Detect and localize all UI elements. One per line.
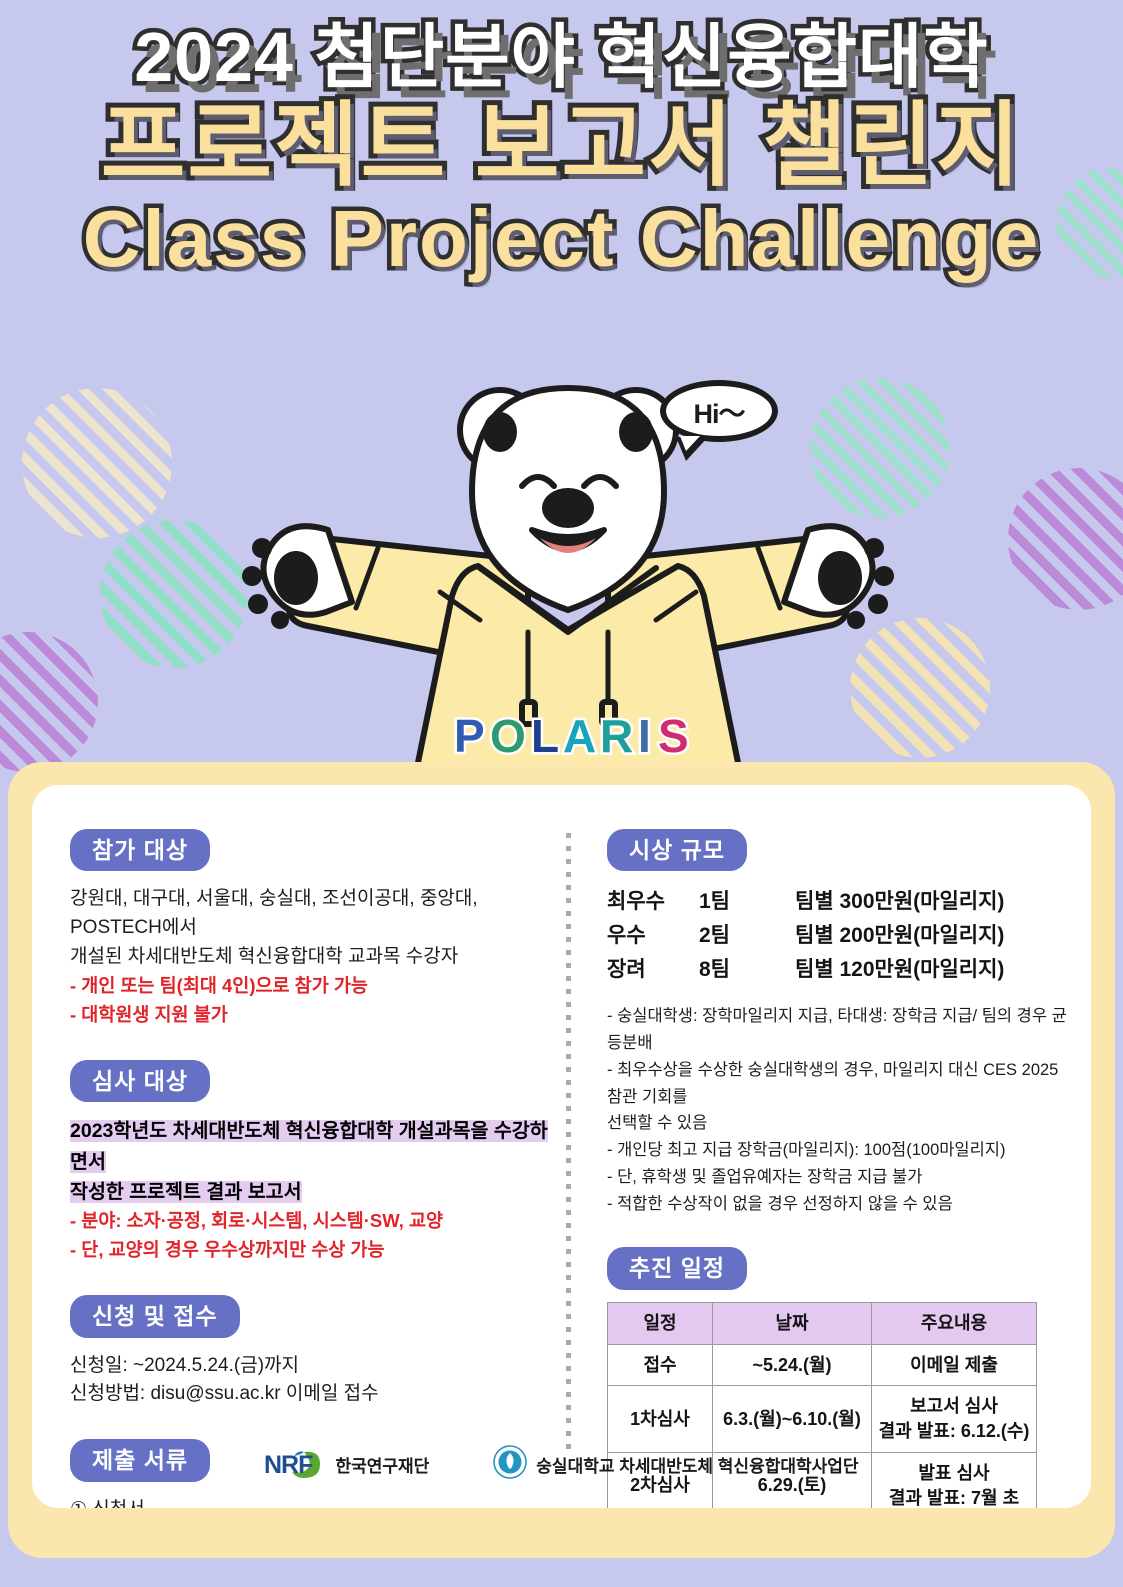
award-teams: 2팀 [699, 919, 795, 953]
award-note-5: - 적합한 수상작이 없을 경우 선정하지 않을 수 있음 [607, 1191, 1077, 1218]
poster-title-block: 2024 첨단분야 혁신융합대학 프로젝트 보고서 챌린지 Class Proj… [0, 22, 1123, 281]
spacer-4 [607, 1217, 1077, 1247]
badge-application: 신청 및 접수 [70, 1295, 240, 1337]
column-divider [566, 833, 571, 1453]
decorative-circle-purple-left [0, 632, 98, 772]
spacer-3 [70, 1409, 550, 1439]
left-column: 참가 대상 강원대, 대구대, 서울대, 숭실대, 조선이공대, 중앙대, PO… [70, 829, 550, 1508]
schedule-stage: 접수 [608, 1344, 713, 1386]
svg-text:R: R [600, 710, 634, 762]
title-line-2: 프로젝트 보고서 챌린지 [0, 98, 1123, 195]
schedule-header-detail: 주요내용 [872, 1302, 1037, 1344]
footer-logos: NRF 한국연구재단 숭실대학교 차세대반도체 혁신융합대학사업단 [32, 1438, 1091, 1490]
schedule-detail-line-1: 이메일 제출 [876, 1353, 1032, 1378]
application-method: 신청방법: disu@ssu.ac.kr 이메일 접수 [70, 1380, 550, 1409]
application-deadline: 신청일: ~2024.5.24.(금)까지 [70, 1352, 550, 1381]
review-highlight-2: 작성한 프로젝트 결과 보고서 [70, 1181, 302, 1203]
info-columns: 참가 대상 강원대, 대구대, 서울대, 숭실대, 조선이공대, 중앙대, PO… [32, 785, 1091, 1508]
info-card-outer: 참가 대상 강원대, 대구대, 서울대, 숭실대, 조선이공대, 중앙대, PO… [8, 762, 1115, 1558]
poster-root: 2024 첨단분야 혁신융합대학 프로젝트 보고서 챌린지 Class Proj… [0, 0, 1123, 1587]
award-row: 장려 8팀 팀별 120만원(마일리지) [607, 953, 1077, 987]
nrf-logo-label: 한국연구재단 [335, 1452, 429, 1477]
title-line-1: 2024 첨단분야 혁신융합대학 [0, 22, 1123, 92]
info-card-inner: 참가 대상 강원대, 대구대, 서울대, 숭실대, 조선이공대, 중앙대, PO… [32, 785, 1091, 1508]
award-prize: 팀별 300만원(마일리지) [795, 885, 1077, 919]
svg-text:NRF: NRF [264, 1451, 313, 1479]
participants-line-1: 강원대, 대구대, 서울대, 숭실대, 조선이공대, 중앙대, POSTECH에… [70, 885, 550, 943]
spacer-1 [70, 1030, 550, 1060]
award-grade: 장려 [607, 953, 699, 987]
ssu-seal-icon [493, 1445, 527, 1484]
schedule-header-date: 날짜 [713, 1302, 872, 1344]
award-grade: 최우수 [607, 885, 699, 919]
logo-group-nrf: NRF 한국연구재단 [264, 1448, 429, 1480]
bear-illustration: P O L A R I S [228, 370, 908, 800]
decorative-circle-cream-left [22, 388, 172, 538]
participants-line-2: 개설된 차세대반도체 혁신융합대학 교과목 수강자 [70, 943, 550, 972]
award-note-1: - 숭실대학생: 장학마일리지 지급, 타대생: 장학금 지급/ 팀의 경우 균… [607, 1003, 1077, 1056]
review-note-1: - 분야: 소자·공정, 회로·시스템, 시스템·SW, 교양 [70, 1207, 550, 1236]
svg-text:S: S [658, 710, 690, 762]
award-row: 최우수 1팀 팀별 300만원(마일리지) [607, 885, 1077, 919]
schedule-header-stage: 일정 [608, 1302, 713, 1344]
award-row: 우수 2팀 팀별 200만원(마일리지) [607, 919, 1077, 953]
schedule-date: ~5.24.(월) [713, 1344, 872, 1386]
svg-text:A: A [563, 710, 597, 762]
section-application: 신청 및 접수 신청일: ~2024.5.24.(금)까지 신청방법: disu… [70, 1295, 550, 1409]
award-teams: 8팀 [699, 953, 795, 987]
ssu-seal-emblem-icon [493, 1445, 527, 1479]
award-prize: 팀별 120만원(마일리지) [795, 953, 1077, 987]
speech-bubble-text: Hi〜 [660, 380, 778, 442]
participants-note-2: - 대학원생 지원 불가 [70, 1001, 550, 1030]
nrf-swoosh-icon: NRF [264, 1448, 326, 1480]
badge-review-target: 심사 대상 [70, 1060, 210, 1102]
schedule-detail-line-1: 보고서 심사 [876, 1394, 1032, 1419]
svg-text:L: L [531, 710, 560, 762]
award-note-2-cont: 선택할 수 있음 [607, 1110, 1077, 1137]
ssu-logo-label: 숭실대학교 차세대반도체 혁신융합대학사업단 [536, 1452, 858, 1477]
award-teams: 1팀 [699, 885, 795, 919]
decorative-circle-purple-right [1008, 468, 1123, 610]
table-row: 접수 ~5.24.(월) 이메일 제출 [608, 1344, 1037, 1386]
badge-awards: 시상 규모 [607, 829, 747, 871]
spacer-awards [607, 987, 1077, 1003]
badge-participants: 참가 대상 [70, 829, 210, 871]
title-line-3: Class Project Challenge [0, 197, 1123, 281]
nrf-logo-icon: NRF [264, 1448, 326, 1480]
right-column: 시상 규모 최우수 1팀 팀별 300만원(마일리지) 우수 2팀 팀별 200… [607, 829, 1077, 1508]
spacer-2 [70, 1265, 550, 1295]
document-item-1: ① 신청서 [70, 1496, 550, 1508]
review-note-2: - 단, 교양의 경우 우수상까지만 수상 가능 [70, 1236, 550, 1265]
participants-note-1: - 개인 또는 팀(최대 4인)으로 참가 가능 [70, 972, 550, 1001]
section-awards: 시상 규모 최우수 1팀 팀별 300만원(마일리지) 우수 2팀 팀별 200… [607, 829, 1077, 1217]
svg-text:I: I [638, 710, 652, 762]
award-note-4: - 단, 휴학생 및 졸업유예자는 장학금 지급 불가 [607, 1164, 1077, 1191]
review-highlight-1: 2023학년도 차세대반도체 혁신융합대학 개설과목을 수강하면서 [70, 1120, 548, 1172]
schedule-detail: 이메일 제출 [872, 1344, 1037, 1386]
svg-text:O: O [490, 710, 527, 762]
schedule-header-row: 일정 날짜 주요내용 [608, 1302, 1037, 1344]
section-participants: 참가 대상 강원대, 대구대, 서울대, 숭실대, 조선이공대, 중앙대, PO… [70, 829, 550, 1030]
badge-schedule: 추진 일정 [607, 1247, 747, 1289]
award-grade: 우수 [607, 919, 699, 953]
award-note-2: - 최우수상을 수상한 숭실대학생의 경우, 마일리지 대신 CES 2025 … [607, 1057, 1077, 1110]
section-review-target: 심사 대상 2023학년도 차세대반도체 혁신융합대학 개설과목을 수강하면서 … [70, 1060, 550, 1265]
award-prize: 팀별 200만원(마일리지) [795, 919, 1077, 953]
polar-bear-mascot: P O L A R I S Hi〜 [228, 370, 908, 800]
decorative-circle-mint-left [100, 520, 248, 668]
logo-group-ssu: 숭실대학교 차세대반도체 혁신융합대학사업단 [493, 1445, 858, 1484]
speech-bubble: Hi〜 [660, 380, 778, 442]
award-note-3: - 개인당 최고 지급 장학금(마일리지): 100점(100마일리지) [607, 1137, 1077, 1164]
svg-text:P: P [454, 710, 486, 762]
